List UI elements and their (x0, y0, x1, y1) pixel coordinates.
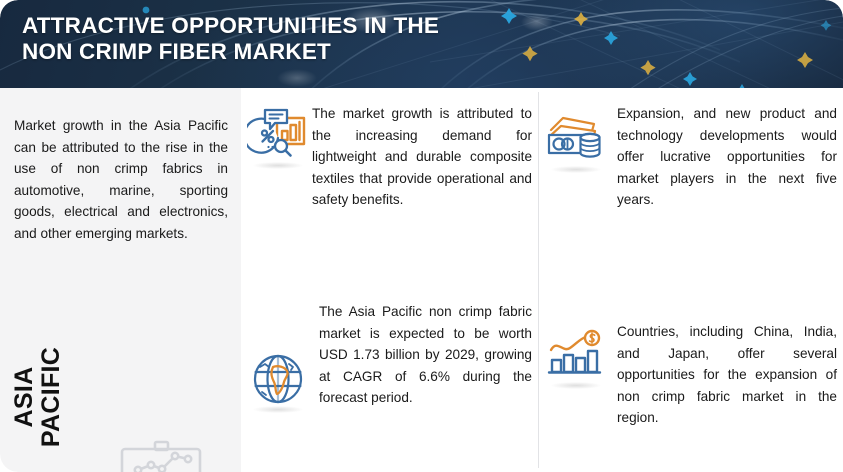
opportunity-card-expansion-opportunity: Expansion, and new product and technolog… (545, 102, 837, 211)
opportunity-grid: The market growth is attributed to the i… (241, 88, 843, 472)
region-summary-text: Market growth in the Asia Pacific can be… (14, 115, 228, 244)
opportunity-card-text: Countries, including China, India, and J… (617, 320, 837, 429)
region-label: ASIA PACIFIC (11, 321, 65, 472)
icon-shadow (551, 382, 601, 389)
opportunity-card-key-countries: Countries, including China, India, and J… (545, 320, 837, 429)
opportunity-card-text: The market growth is attributed to the i… (312, 102, 532, 211)
presentation-board-analytics-icon (112, 434, 224, 472)
icon-shadow (253, 406, 303, 413)
infographic-root: ATTRACTIVE OPPORTUNITIES IN THE NON CRIM… (0, 0, 843, 472)
header-banner: ATTRACTIVE OPPORTUNITIES IN THE NON CRIM… (0, 0, 843, 88)
page-title: ATTRACTIVE OPPORTUNITIES IN THE NON CRIM… (22, 13, 542, 65)
globe-africa-icon (247, 348, 309, 410)
growth-bar-chart-dollar-icon (545, 324, 607, 386)
region-panel: Market growth in the Asia Pacific can be… (0, 88, 241, 472)
opportunity-card-market-growth-driver: The market growth is attributed to the i… (247, 102, 532, 211)
icon-shadow (551, 166, 601, 173)
icon-shadow (253, 162, 303, 169)
opportunity-card-text: Expansion, and new product and technolog… (617, 102, 837, 211)
money-cash-coins-icon (545, 108, 607, 170)
opportunity-card-market-forecast: The Asia Pacific non crimp fabric market… (247, 300, 532, 410)
percent-chart-search-icon (247, 104, 309, 166)
column-divider (538, 92, 539, 468)
opportunity-card-text: The Asia Pacific non crimp fabric market… (319, 300, 532, 409)
